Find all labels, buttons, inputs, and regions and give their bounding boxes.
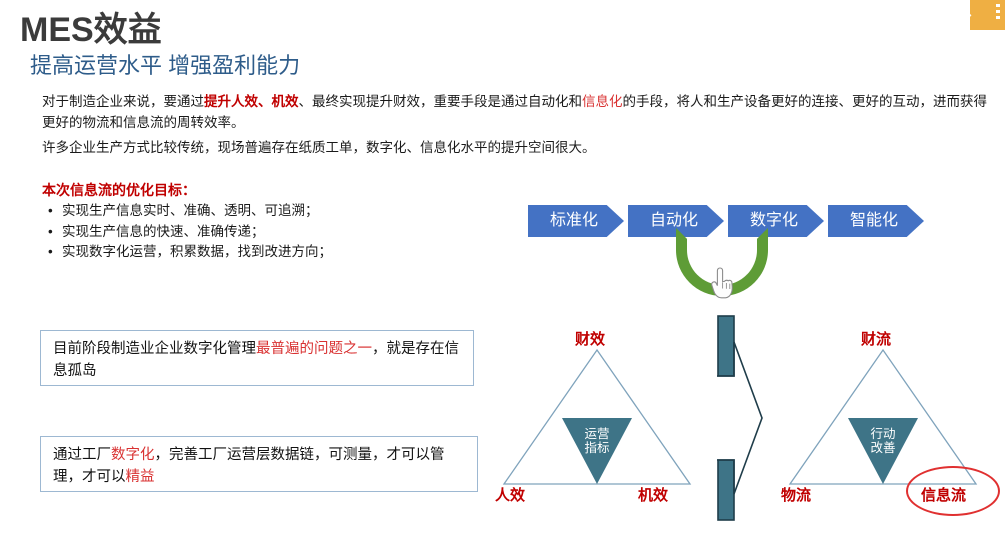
logo-swoosh-icon bbox=[970, 8, 1000, 30]
logo-bars-icon bbox=[996, 4, 1000, 7]
solution-highlight-1: 数字化 bbox=[111, 447, 155, 463]
page-subtitle: 提高运营水平 增强盈利能力 bbox=[30, 48, 300, 80]
intro-highlight-2: 信息化 bbox=[582, 94, 623, 109]
chevron-stage-intelligence: 智能化 bbox=[828, 205, 924, 237]
efficiency-label-bottom-right: 机效 bbox=[638, 484, 668, 505]
goals-heading: 本次信息流的优化目标： bbox=[42, 180, 196, 200]
flow-inner-line-1: 行动 bbox=[857, 427, 909, 441]
brand-logo-icon bbox=[970, 0, 1005, 30]
flow-label-bottom-left: 物流 bbox=[781, 484, 811, 505]
highlight-ellipse bbox=[906, 466, 1000, 516]
intro-seg-1: 对于制造企业来说，要通过 bbox=[42, 94, 204, 109]
efficiency-inner-line-1: 运营 bbox=[571, 427, 623, 441]
efficiency-inner-text: 运营 指标 bbox=[571, 427, 623, 456]
intro-paragraph: 对于制造企业来说，要通过提升人效、机效、最终实现提升财效，重要手段是通过自动化和… bbox=[42, 92, 1000, 134]
goals-list: 实现生产信息实时、准确、透明、可追溯； 实现生产信息的快速、准确传递； 实现数字… bbox=[46, 201, 332, 263]
intro-seg-3: 、最终实现提升财效，重要手段是通过自动化和 bbox=[299, 94, 583, 109]
flow-inner-text: 行动 改善 bbox=[857, 427, 909, 456]
problem-callout: 目前阶段制造业企业数字化管理最普遍的问题之一，就是存在信息孤岛 bbox=[40, 330, 474, 386]
list-item: 实现生产信息实时、准确、透明、可追溯； bbox=[46, 201, 332, 222]
intro-highlight-1: 提升人效、机效 bbox=[204, 94, 299, 109]
flow-label-top: 财流 bbox=[861, 328, 891, 349]
flow-inner-line-2: 改善 bbox=[857, 441, 909, 455]
solution-highlight-2: 精益 bbox=[126, 469, 155, 485]
list-item: 实现数字化运营，积累数据，找到改进方向； bbox=[46, 242, 332, 263]
problem-highlight: 最普遍的问题之一 bbox=[256, 341, 372, 357]
efficiency-label-bottom-left: 人效 bbox=[495, 484, 525, 505]
efficiency-label-top: 财效 bbox=[575, 328, 605, 349]
secondary-paragraph: 许多企业生产方式比较传统，现场普遍存在纸质工单，数字化、信息化水平的提升空间很大… bbox=[42, 138, 742, 159]
solution-callout: 通过工厂数字化，完善工厂运营层数据链，可测量，才可以管理，才可以精益 bbox=[40, 436, 478, 492]
list-item: 实现生产信息的快速、准确传递； bbox=[46, 222, 332, 243]
transform-arrow bbox=[700, 312, 778, 524]
slide-canvas: MES效益 提高运营水平 增强盈利能力 对于制造企业来说，要通过提升人效、机效、… bbox=[0, 0, 1005, 537]
problem-seg-1: 目前阶段制造业企业数字化管理 bbox=[53, 341, 256, 357]
efficiency-inner-line-2: 指标 bbox=[571, 441, 623, 455]
solution-seg-1: 通过工厂 bbox=[53, 447, 111, 463]
efficiency-triangle: 财效 人效 机效 运营 指标 bbox=[492, 332, 702, 512]
pointing-hand-icon bbox=[709, 266, 735, 300]
page-title: MES效益 bbox=[20, 2, 162, 51]
chevron-stage-standardization: 标准化 bbox=[528, 205, 624, 237]
